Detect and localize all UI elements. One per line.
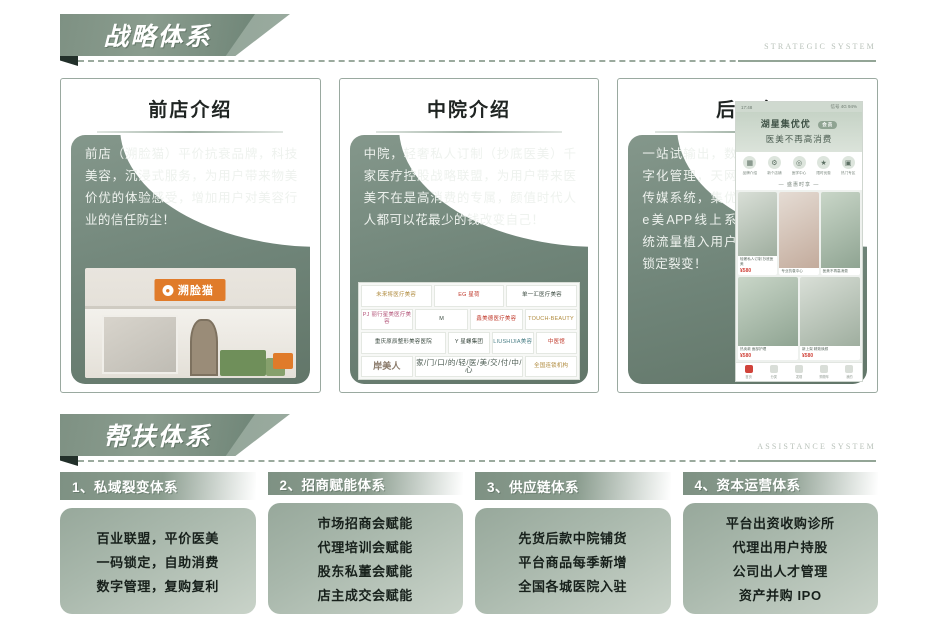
- partner-logo: Y 星螺集团: [448, 332, 490, 354]
- partner-logo: PJ 丽行星美医疗美容: [361, 309, 414, 331]
- app-quick-icons-row: ▦ 品牌介绍 ⚙ 新个店铺 ◎ 医学中心 ★ 限时优惠 ▣ 热门专区: [736, 152, 862, 179]
- compass-icon: [795, 365, 803, 373]
- card-body-front-store: 前店（溯脸猫）平价抗衰品牌，科技美容，沉浸式服务，为用户带来物美价优的体验感受，…: [85, 143, 298, 231]
- phone-status-bar: 17:48 信号 4G 94%: [736, 102, 862, 112]
- product-price: ¥580: [800, 353, 860, 360]
- partner-logo: LIUSHIJIA美容: [492, 332, 534, 354]
- column-heading: 1、私域裂变体系: [60, 472, 256, 500]
- product-price: ¥580: [738, 353, 798, 360]
- column-heading: 3、供应链体系: [475, 472, 671, 500]
- column-line: 资产并购 IPO: [739, 585, 822, 604]
- strategy-cards-row: 前店介绍 前店（溯脸猫）平价抗衰品牌，科技美容，沉浸式服务，为用户带来物美价优的…: [0, 78, 938, 393]
- product-image: [779, 192, 818, 268]
- column-heading: 4、资本运营体系: [683, 472, 879, 495]
- column-line: 公司出人才管理: [733, 561, 828, 580]
- column-body: 平台出资收购诊所 代理出用户持股 公司出人才管理 资产并购 IPO: [683, 503, 879, 614]
- storefront-window: [102, 315, 178, 374]
- column-line: 一码锁定，自助消费: [97, 552, 219, 571]
- quick-icon-label: 限时优惠: [812, 171, 836, 176]
- column-line: 先货后款中院铺货: [518, 528, 627, 547]
- column-line: 代理培训会赋能: [318, 537, 413, 556]
- card-title-front-store: 前店介绍: [61, 79, 320, 122]
- assistance-columns-row: 1、私域裂变体系 百业联盟，平价医美 一码锁定，自助消费 数字管理，复购复利 2…: [0, 472, 938, 614]
- strategic-banner: 战略体系 STRATEGIC SYSTEM: [0, 0, 938, 62]
- quick-icon-label: 热门专区: [836, 171, 860, 176]
- nav-item-discover[interactable]: 发现: [786, 365, 811, 379]
- quick-icon-hot-zone[interactable]: ▣ 热门专区: [836, 156, 860, 176]
- nav-item-profile[interactable]: 我的: [837, 365, 862, 379]
- quick-icon-new-store[interactable]: ⚙ 新个店铺: [763, 156, 787, 176]
- column-line: 百业联盟，平价医美: [97, 528, 219, 547]
- cart-icon: [820, 365, 828, 373]
- column-heading: 2、招商赋能体系: [268, 472, 464, 495]
- storefront-planter: [220, 350, 266, 376]
- home-icon: [745, 365, 753, 373]
- product-image: [821, 192, 860, 268]
- app-hero-badge[interactable]: 会员: [818, 121, 837, 129]
- storefront-facade: [85, 306, 296, 378]
- product-image: [800, 277, 860, 346]
- card-body-back-platform: 一站试输出，数字化管理，天网传媒系统，集优e美APP线上系统流量植入用户锁定裂变…: [642, 143, 737, 275]
- app-hero-title: 湖星集优优 会员: [740, 117, 858, 130]
- column-line: 市场招商会赋能: [318, 513, 413, 532]
- storefront-sign: ● 溯脸猫: [155, 279, 226, 301]
- product-caption: 新上架 精致焕颜: [800, 346, 860, 353]
- logo-row: 岸美人 家/门/口/的/轻/医/美/交/付/中/心 全国连锁机构: [361, 356, 578, 378]
- nav-label: 购物车: [812, 374, 837, 379]
- product-card[interactable]: 热卖款 面部护理 ¥580: [738, 277, 798, 360]
- target-icon: ◎: [793, 156, 806, 169]
- partner-logo: 重庆原辰整形美容医院: [361, 332, 446, 354]
- banner-corner-tab-icon: [60, 456, 78, 466]
- column-body: 百业联盟，平价医美 一码锁定，自助消费 数字管理，复购复利: [60, 508, 256, 614]
- app-product-grid: 轻奢私人订制 抄底医美 ¥580 专业抗衰中心 医美不再高消费: [736, 190, 862, 362]
- storefront-sign-label: 溯脸猫: [178, 282, 214, 298]
- column-line: 店主成交会赋能: [318, 585, 413, 604]
- card-mid-hospital[interactable]: 中院介绍 中院，轻奢私人订制（抄底医美）千家医疗控股战略联盟，为用户带来医美不在…: [339, 78, 600, 393]
- app-hero-banner: 湖星集优优 会员 医美不再高消费: [736, 112, 862, 152]
- product-image: [738, 192, 777, 256]
- partner-logo: 单一汇医疗美容: [506, 285, 577, 307]
- quick-icon-label: 医学中心: [787, 171, 811, 176]
- product-image: [738, 277, 798, 346]
- logo-grid-slogan: 家/门/口/的/轻/医/美/交/付/中/心: [416, 359, 522, 373]
- banner-accent-rule: [738, 60, 876, 62]
- banner-corner-tab-icon: [60, 56, 78, 66]
- app-phone-mockup: 17:48 信号 4G 94% 湖星集优优 会员 医美不再高消费 ▦ 品牌介绍 …: [735, 101, 863, 382]
- product-card[interactable]: 轻奢私人订制 抄底医美 ¥580: [738, 192, 777, 275]
- square-icon: ▣: [842, 156, 855, 169]
- storefront-door: [190, 319, 217, 376]
- product-caption: 轻奢私人订制 抄底医美: [738, 256, 777, 268]
- status-time: 17:48: [741, 105, 752, 110]
- card-title-divider: [376, 131, 562, 133]
- column-line: 平台商品每季新增: [518, 552, 627, 571]
- product-card[interactable]: 专业抗衰中心: [779, 192, 818, 275]
- section-title-strategic: 战略体系: [103, 17, 211, 53]
- logo-row: PJ 丽行星美医疗美容 M 鑫美德医疗美容 TOUCH-BEAUTY: [361, 309, 578, 331]
- card-title-divider: [97, 131, 283, 133]
- nav-item-home[interactable]: 首页: [736, 365, 761, 379]
- section-subtitle-strategic: STRATEGIC SYSTEM: [764, 42, 876, 51]
- quick-icon-limited-offer[interactable]: ★ 限时优惠: [812, 156, 836, 176]
- product-row: 轻奢私人订制 抄底医美 ¥580 专业抗衰中心 医美不再高消费: [738, 192, 860, 275]
- brand-name-anmeiren: 岸美人: [373, 363, 401, 370]
- storefront-side-badge: [273, 353, 293, 369]
- nav-label: 分类: [761, 374, 786, 379]
- column-line: 平台出资收购诊所: [726, 513, 835, 532]
- product-card[interactable]: 医美不再高消费: [821, 192, 860, 275]
- app-section-label: — 盛惠时享 —: [736, 179, 862, 190]
- gear-icon: ⚙: [768, 156, 781, 169]
- banner-shape: 帮扶体系: [60, 414, 255, 456]
- column-body: 市场招商会赋能 代理培训会赋能 股东私董会赋能 店主成交会赋能: [268, 503, 464, 614]
- card-front-store[interactable]: 前店介绍 前店（溯脸猫）平价抗衰品牌，科技美容，沉浸式服务，为用户带来物美价优的…: [60, 78, 321, 393]
- nav-label: 我的: [837, 374, 862, 379]
- partner-logo-grid: 未来将医疗美容 EG 星荷 单一汇医疗美容 PJ 丽行星美医疗美容 M 鑫美德医…: [358, 282, 581, 380]
- star-icon: ★: [817, 156, 830, 169]
- product-caption: 热卖款 面部护理: [738, 346, 798, 353]
- column-capital-operation[interactable]: 4、资本运营体系 平台出资收购诊所 代理出用户持股 公司出人才管理 资产并购 I…: [683, 472, 879, 614]
- status-indicators: 信号 4G 94%: [831, 104, 858, 110]
- cat-logo-icon: ●: [163, 285, 174, 296]
- product-price: ¥580: [738, 268, 777, 275]
- app-hero-title-text: 湖星集优优: [761, 119, 811, 129]
- card-title-mid-hospital: 中院介绍: [340, 79, 599, 122]
- card-body-mid-hospital: 中院，轻奢私人订制（抄底医美）千家医疗控股战略联盟，为用户带来医美不在是高消费的…: [364, 143, 577, 231]
- assistance-banner: 帮扶体系 ASSISTANCE SYSTEM: [0, 400, 938, 468]
- quick-icon-label: 品牌介绍: [738, 171, 762, 176]
- card-back-platform[interactable]: 后平台 一站试输出，数字化管理，天网传媒系统，集优e美APP线上系统流量植入用户…: [617, 78, 878, 393]
- product-row: 热卖款 面部护理 ¥580 新上架 精致焕颜 ¥580: [738, 277, 860, 360]
- column-private-domain[interactable]: 1、私域裂变体系 百业联盟，平价医美 一码锁定，自助消费 数字管理，复购复利: [60, 472, 256, 614]
- column-line: 全国各城医院入驻: [518, 576, 627, 595]
- nav-label: 首页: [736, 374, 761, 379]
- partner-logo: EG 星荷: [434, 285, 505, 307]
- column-investment-empowerment[interactable]: 2、招商赋能体系 市场招商会赋能 代理培训会赋能 股东私董会赋能 店主成交会赋能: [268, 472, 464, 614]
- quick-icon-brand[interactable]: ▦ 品牌介绍: [738, 156, 762, 176]
- app-hero-subtitle: 医美不再高消费: [740, 133, 858, 145]
- section-title-assistance: 帮扶体系: [103, 417, 211, 453]
- column-supply-chain[interactable]: 3、供应链体系 先货后款中院铺货 平台商品每季新增 全国各城医院入驻: [475, 472, 671, 614]
- logo-grid-slogan-cell: 家/门/口/的/轻/医/美/交/付/中/心: [415, 356, 523, 378]
- quick-icon-medical[interactable]: ◎ 医学中心: [787, 156, 811, 176]
- partner-logo: 中医馆: [536, 332, 578, 354]
- nav-item-category[interactable]: 分类: [761, 365, 786, 379]
- grid-icon: ▦: [743, 156, 756, 169]
- nav-item-cart[interactable]: 购物车: [812, 365, 837, 379]
- column-line: 数字管理，复购复利: [97, 576, 219, 595]
- partner-logo: 全国连锁机构: [525, 356, 577, 378]
- nav-label: 发现: [786, 374, 811, 379]
- partner-logo: TOUCH-BEAUTY: [525, 309, 578, 331]
- storefront-photo: ● 溯脸猫: [85, 268, 296, 378]
- partner-logo-main: 岸美人: [361, 356, 413, 378]
- product-caption: 医美不再高消费: [821, 268, 860, 275]
- column-body: 先货后款中院铺货 平台商品每季新增 全国各城医院入驻: [475, 508, 671, 614]
- partner-logo: 鑫美德医疗美容: [470, 309, 523, 331]
- logo-row: 重庆原辰整形美容医院 Y 星螺集团 LIUSHIJIA美容 中医馆: [361, 332, 578, 354]
- partner-logo: 未来将医疗美容: [361, 285, 432, 307]
- partner-logo: M: [415, 309, 468, 331]
- product-card[interactable]: 新上架 精致焕颜 ¥580: [800, 277, 860, 360]
- column-line: 股东私董会赋能: [318, 561, 413, 580]
- column-line: 代理出用户持股: [733, 537, 828, 556]
- banner-shape: 战略体系: [60, 14, 255, 56]
- logo-row: 未来将医疗美容 EG 星荷 单一汇医疗美容: [361, 285, 578, 307]
- product-caption: 专业抗衰中心: [779, 268, 818, 275]
- section-subtitle-assistance: ASSISTANCE SYSTEM: [757, 442, 876, 451]
- category-icon: [770, 365, 778, 373]
- app-bottom-nav: 首页 分类 发现 购物车 我的: [736, 362, 862, 381]
- quick-icon-label: 新个店铺: [763, 171, 787, 176]
- banner-accent-rule: [738, 460, 876, 462]
- user-icon: [845, 365, 853, 373]
